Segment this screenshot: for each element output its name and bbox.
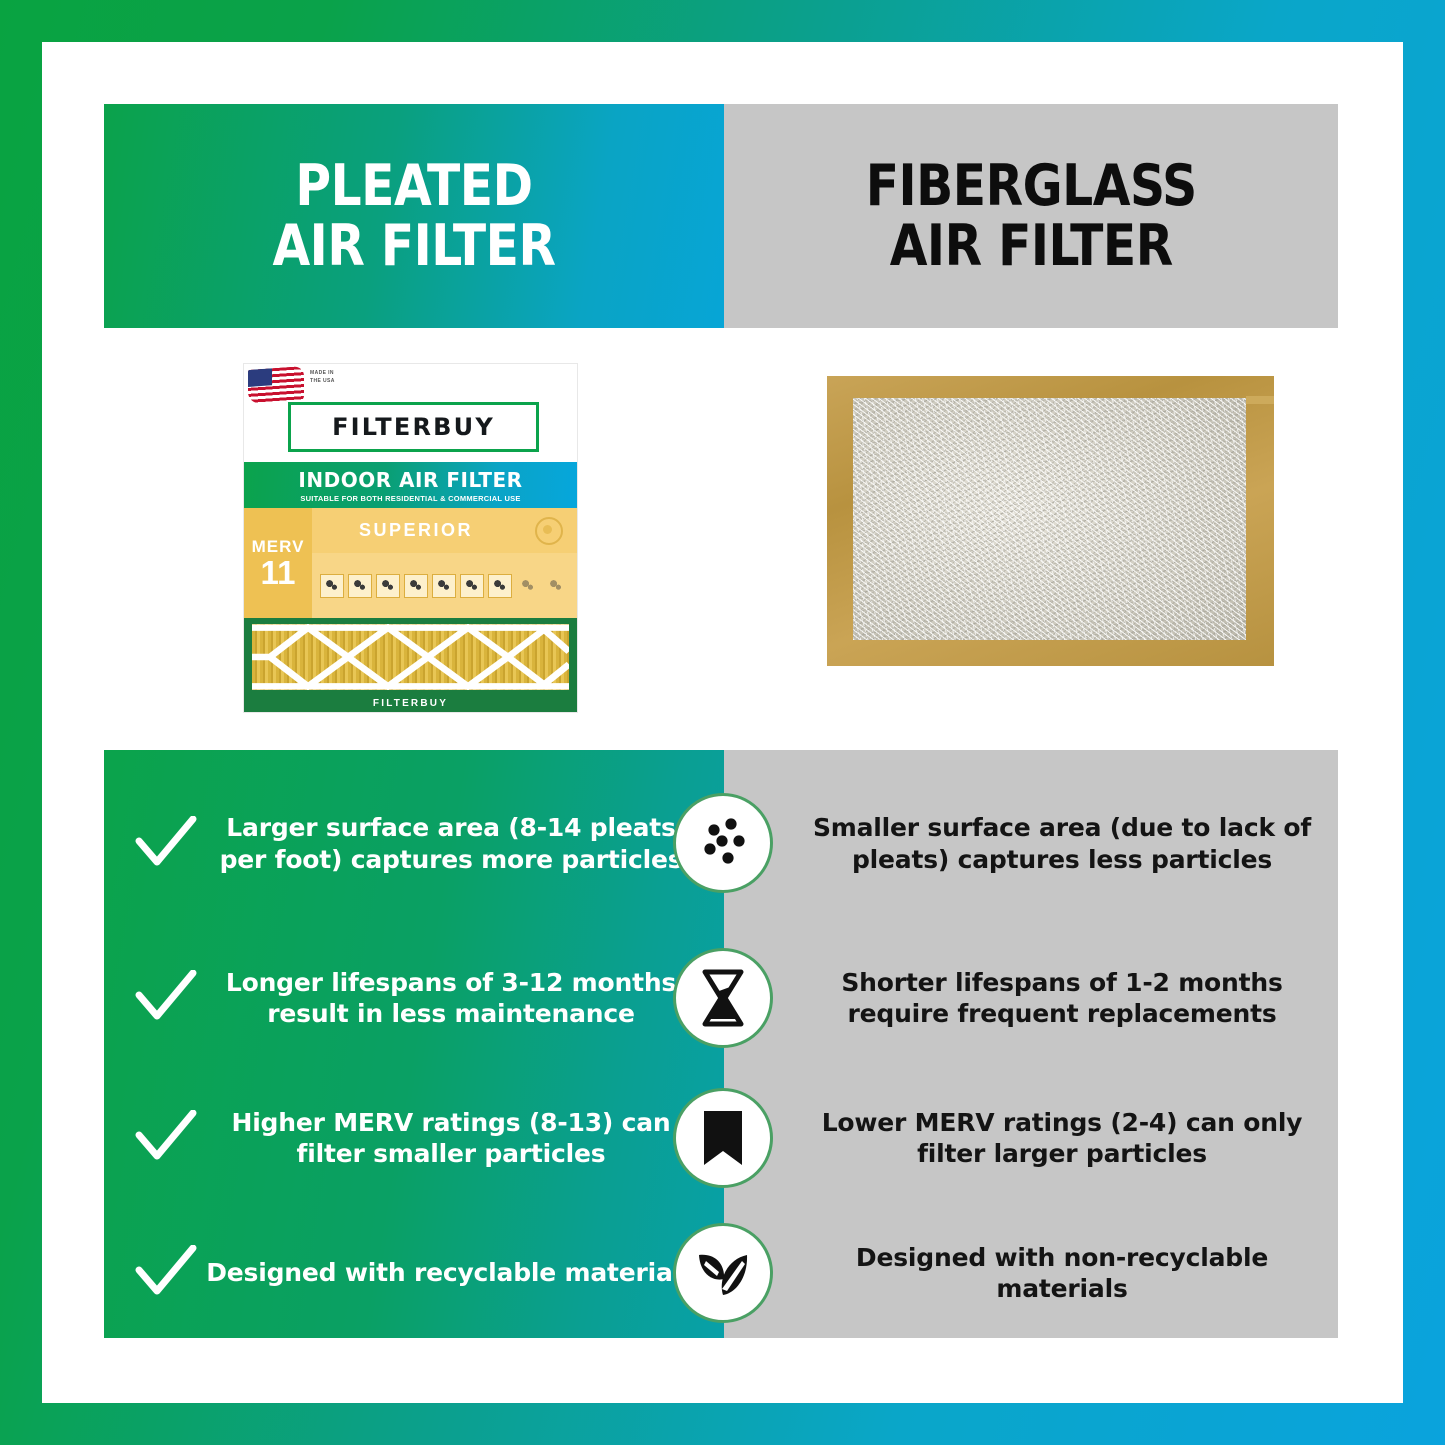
- pleated-filter-product-image: MADE INTHE USA FILTERBUY INDOOR AIR FILT…: [244, 364, 577, 712]
- fb-feature-icon-strip: [312, 553, 577, 618]
- bacteria-icon: [432, 574, 456, 598]
- row-3-pleated-text: Higher MERV ratings (8-13) can filter sm…: [204, 1107, 724, 1170]
- header-pleated-line1: PLEATED: [272, 156, 555, 216]
- particles-icon: [673, 793, 773, 893]
- header-pleated-title: PLEATED AIR FILTER: [272, 156, 555, 277]
- made-in-usa-label: MADE INTHE USA: [310, 370, 335, 385]
- fb-support-grid: [252, 624, 569, 690]
- dust-icon: [320, 574, 344, 598]
- fb-bottom-wordmark: FILTERBUY: [244, 698, 577, 709]
- smoke-icon: [488, 574, 512, 598]
- row-1-pleated-cell: Larger surface area (8-14 pleats per foo…: [104, 812, 724, 875]
- row-2-fiberglass-text: Shorter lifespans of 1-2 months require …: [724, 967, 1338, 1030]
- row-1-fiberglass-text: Smaller surface area (due to lack of ple…: [724, 812, 1338, 875]
- filterbuy-wordmark: FILTERBUY: [332, 413, 495, 441]
- row-4-fiberglass-text: Designed with non-recyclable materials: [724, 1242, 1338, 1305]
- check-icon: [134, 1245, 198, 1301]
- filterbuy-logo-box: FILTERBUY: [288, 402, 539, 452]
- header-fiberglass-title: FIBERGLASS AIR FILTER: [865, 156, 1196, 277]
- header-pleated: PLEATED AIR FILTER: [104, 104, 724, 328]
- pet-dander-icon: [460, 574, 484, 598]
- pollen-icon: [404, 574, 428, 598]
- header-pleated-line2: AIR FILTER: [272, 216, 555, 276]
- row-4-pleated-cell: Designed with recyclable materials: [104, 1245, 724, 1301]
- fb-merv-block: MERV 11: [244, 508, 312, 618]
- header-band: PLEATED AIR FILTER FIBERGLASS AIR FILTER: [104, 104, 1338, 328]
- fb-indoor-air-filter-subtitle: SUITABLE FOR BOTH RESIDENTIAL & COMMERCI…: [300, 494, 520, 503]
- fb-indoor-air-filter-title: INDOOR AIR FILTER: [298, 468, 522, 492]
- fb-indoor-band: INDOOR AIR FILTER SUITABLE FOR BOTH RESI…: [244, 462, 577, 508]
- fiberglass-frame-tab: [1246, 396, 1274, 404]
- hourglass-icon: [673, 948, 773, 1048]
- comparison-rows: Larger surface area (8-14 pleats per foo…: [104, 750, 1338, 1338]
- bookmark-icon: [673, 1088, 773, 1188]
- product-image-row: MADE INTHE USA FILTERBUY INDOOR AIR FILT…: [104, 328, 1338, 750]
- odor-icon: [544, 574, 568, 598]
- fb-grade-label: SUPERIOR: [312, 508, 520, 553]
- row-2-pleated-cell: Longer lifespans of 3-12 months result i…: [104, 967, 724, 1030]
- virus-icon: [516, 574, 540, 598]
- row-3-fiberglass-text: Lower MERV ratings (2-4) can only filter…: [724, 1107, 1338, 1170]
- row-3-pleated-cell: Higher MERV ratings (8-13) can filter sm…: [104, 1107, 724, 1170]
- fb-pleat-media: FILTERBUY: [244, 618, 577, 712]
- check-icon: [134, 816, 198, 872]
- row-4-pleated-text: Designed with recyclable materials: [204, 1257, 724, 1289]
- mold-icon: [376, 574, 400, 598]
- fiberglass-filter-product-image: [827, 376, 1274, 666]
- leaf-icon: [673, 1223, 773, 1323]
- header-fiberglass: FIBERGLASS AIR FILTER: [724, 104, 1338, 328]
- certification-seal-icon: [520, 508, 577, 553]
- header-fiberglass-line2: AIR FILTER: [865, 216, 1196, 276]
- row-2-pleated-text: Longer lifespans of 3-12 months result i…: [204, 967, 724, 1030]
- fb-gold-panel: MERV 11 SUPERIOR: [244, 508, 577, 618]
- dust-mite-icon: [348, 574, 372, 598]
- check-icon: [134, 1110, 198, 1166]
- fb-merv-value: 11: [261, 557, 296, 588]
- header-fiberglass-line1: FIBERGLASS: [865, 156, 1196, 216]
- usa-flag-icon: [248, 366, 304, 404]
- comparison-panel: Larger surface area (8-14 pleats per foo…: [104, 750, 1338, 1338]
- check-icon: [134, 970, 198, 1026]
- row-1-pleated-text: Larger surface area (8-14 pleats per foo…: [204, 812, 724, 875]
- fiberglass-media-mesh: [853, 398, 1246, 640]
